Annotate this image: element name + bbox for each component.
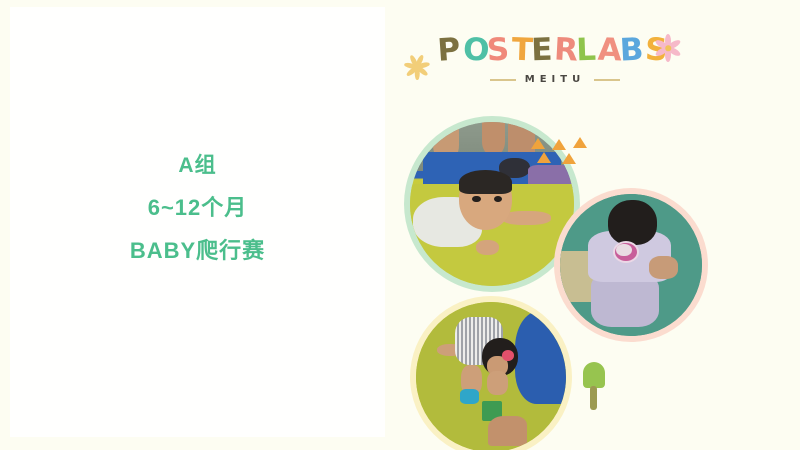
photo-baby-crawling-away-on-green-mat (560, 194, 702, 336)
triangle-icon-1 (531, 138, 545, 149)
photo3-baby-arm-right (487, 371, 508, 395)
photo1-baby-eye-left (472, 196, 480, 203)
popsicle-top (583, 362, 605, 388)
subtitle-dash-left (490, 79, 516, 81)
photo2-baby-head (608, 200, 656, 245)
photo-baby-crawling-on-yellow-mat (410, 122, 574, 286)
photo1-baby-hand (476, 240, 499, 255)
logo-letter-s1: S (486, 27, 511, 72)
logo-letter-l: L (575, 28, 596, 73)
poster-canvas: A组 6~12个月 BABY爬行赛 POSTERLABS MEITU (0, 0, 800, 450)
left-text-panel: A组 6~12个月 BABY爬行赛 (10, 7, 385, 437)
photo3-blue-toy (460, 389, 480, 404)
event-age-range-label: 6~12个月 (10, 197, 385, 219)
photo2-baby-arm (649, 256, 677, 279)
logo-letter-b: B (618, 27, 644, 72)
popsicle-icon (582, 362, 606, 410)
photo2-shirt-badge-inner (616, 244, 632, 257)
photo1-adult-leg-b (482, 122, 505, 155)
brand-subtitle: MEITU (525, 74, 585, 85)
flower-icon-right (652, 32, 684, 64)
logo-letter-p: P (436, 27, 462, 72)
logo-letter-e: E (530, 28, 553, 73)
photo3-hair-clip (502, 350, 514, 361)
event-title-block: A组 6~12个月 BABY爬行赛 (10, 155, 385, 283)
triangle-icon-5 (562, 153, 576, 164)
photo3-adult-hand (488, 416, 527, 446)
triangle-icon-4 (537, 152, 551, 163)
triangle-icon-2 (552, 139, 566, 150)
brand-subtitle-row: MEITU (460, 74, 650, 85)
subtitle-dash-right (594, 79, 620, 81)
photo3-blue-mat (515, 311, 566, 404)
photo1-baby-hair (459, 170, 511, 195)
event-name-label: BABY爬行赛 (10, 240, 385, 262)
triangle-icon-3 (573, 137, 587, 148)
popsicle-stick (590, 386, 597, 410)
photo-baby-reaching-for-toys-on-green-mat (416, 302, 566, 450)
flower-icon-left (404, 54, 430, 80)
brand-wordmark: POSTERLABS (438, 28, 668, 76)
event-group-label: A组 (10, 155, 385, 176)
